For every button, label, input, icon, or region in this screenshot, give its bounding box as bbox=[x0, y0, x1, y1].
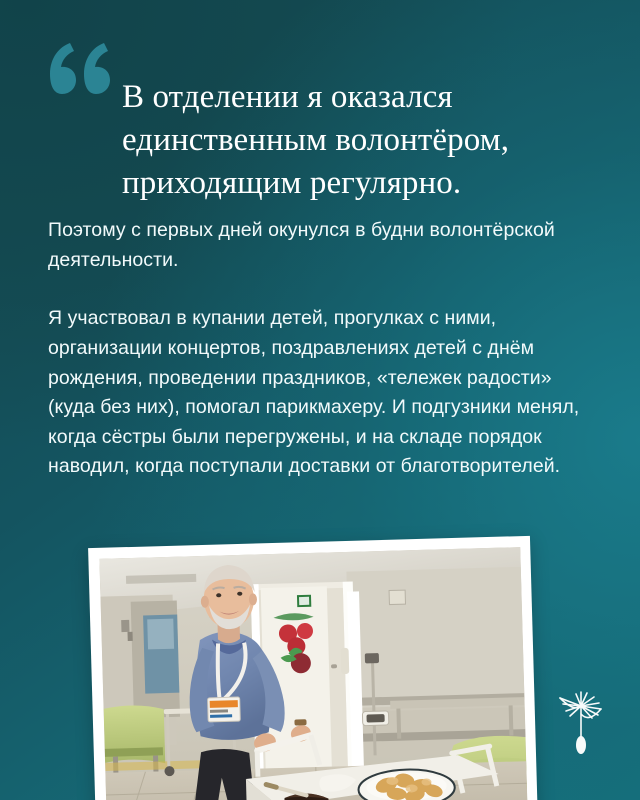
quote-body: Поэтому с первых дней окунулся в будни в… bbox=[48, 216, 596, 482]
body-paragraph-1: Поэтому с первых дней окунулся в будни в… bbox=[48, 216, 596, 275]
quote-headline: В отделении я оказался единственным воло… bbox=[122, 76, 622, 205]
quote-card: В отделении я оказался единственным воло… bbox=[0, 0, 640, 800]
body-paragraph-2: Я участвовал в купании детей, прогулках … bbox=[48, 304, 596, 482]
dandelion-seed-logo bbox=[550, 680, 612, 758]
quotation-mark-icon bbox=[44, 38, 116, 114]
photo-volunteer-with-cart bbox=[99, 547, 528, 800]
photo-frame bbox=[88, 536, 538, 800]
